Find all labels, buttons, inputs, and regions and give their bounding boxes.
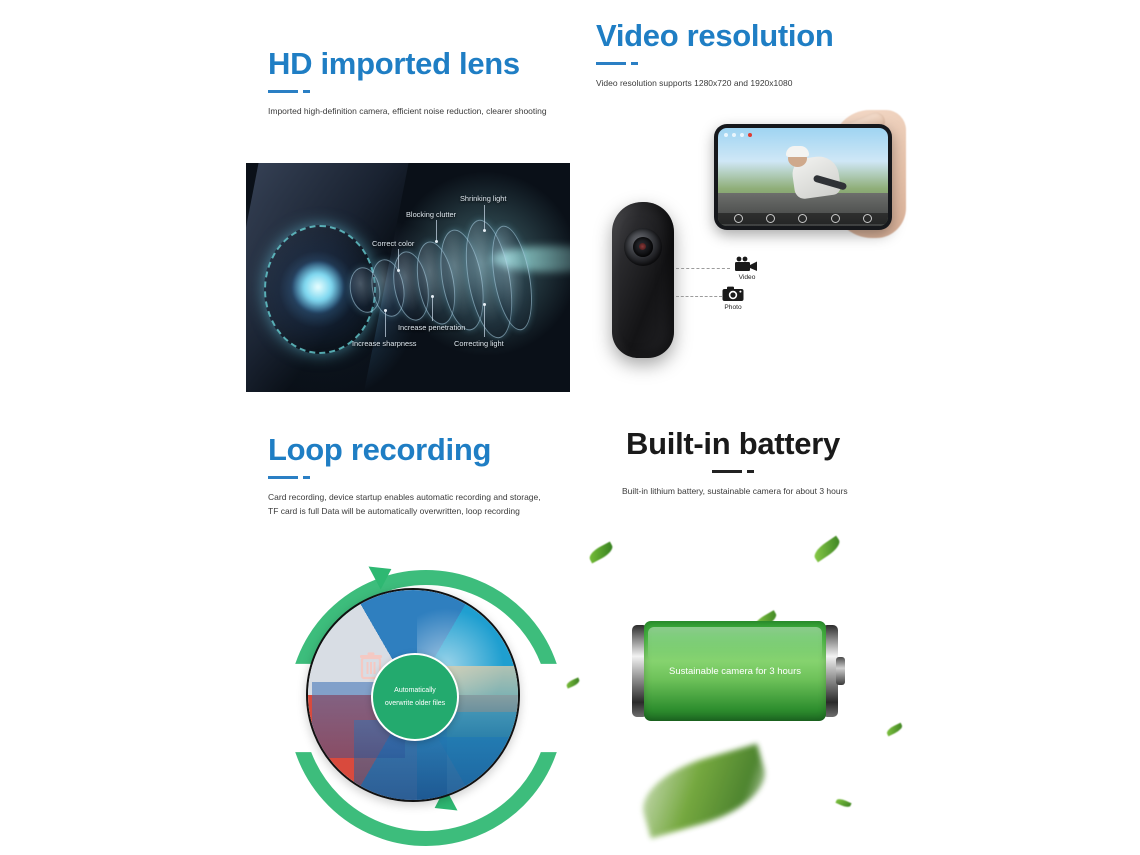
label-blocking-clutter: Blocking clutter bbox=[406, 210, 456, 219]
camera-lens-outer bbox=[624, 228, 662, 266]
leader-dot-shrinking-light bbox=[483, 229, 486, 232]
leader-dot-increase-sharpness bbox=[384, 309, 387, 312]
hub-line-1: Automatically bbox=[394, 684, 436, 697]
leader-blocking-clutter bbox=[436, 220, 437, 242]
hd-lens-subtitle: Imported high-definition camera, efficie… bbox=[268, 104, 547, 119]
lens-exploded-diagram-image: Shrinking light Blocking clutter Correct… bbox=[246, 163, 570, 392]
divider-long-dash bbox=[596, 62, 626, 65]
divider-short-dash bbox=[747, 470, 754, 473]
callout-line-photo bbox=[676, 296, 722, 297]
video-resolution-title: Video resolution bbox=[596, 20, 834, 53]
loop-recording-divider bbox=[268, 476, 541, 479]
label-correcting-light: Correcting light bbox=[454, 339, 504, 348]
video-resolution-divider bbox=[596, 62, 834, 65]
divider-long-dash bbox=[268, 476, 298, 479]
decorative-leaf-icon bbox=[835, 797, 851, 809]
label-increase-penetration: Increase penetration bbox=[398, 323, 465, 332]
section-loop-recording: Loop recording Card recording, device st… bbox=[268, 434, 541, 519]
battery-body: Sustainable camera for 3 hours bbox=[644, 621, 826, 721]
divider-long-dash bbox=[268, 90, 298, 93]
divider-short-dash bbox=[631, 62, 638, 65]
leader-dot-correct-color bbox=[397, 269, 400, 272]
battery-gloss bbox=[648, 627, 822, 661]
battery-terminal-nub bbox=[836, 657, 845, 685]
loop-recording-wheel-diagram: Automatically overwrite older files bbox=[282, 562, 540, 830]
built-in-battery-divider bbox=[622, 470, 844, 473]
control-icon[interactable] bbox=[766, 214, 775, 223]
loop-hub-label: Automatically overwrite older files bbox=[371, 653, 459, 741]
section-built-in-battery: Built-in battery Built-in lithium batter… bbox=[622, 428, 844, 498]
status-pip-icon bbox=[732, 133, 736, 137]
leader-correcting-light bbox=[484, 305, 485, 337]
recording-indicator-icon bbox=[748, 133, 752, 137]
built-in-battery-subtitle: Built-in lithium battery, sustainable ca… bbox=[622, 484, 844, 499]
decorative-leaf-icon bbox=[587, 542, 615, 564]
hand-holding-phone-image bbox=[704, 116, 900, 234]
leader-correct-color bbox=[398, 249, 399, 271]
section-video-resolution: Video resolution Video resolution suppor… bbox=[596, 20, 834, 90]
decorative-leaf-icon bbox=[885, 723, 903, 737]
divider-long-dash bbox=[712, 470, 742, 473]
phone-screen-video-preview bbox=[718, 128, 888, 226]
control-icon[interactable] bbox=[863, 214, 872, 223]
camera-lens-inner bbox=[633, 237, 653, 257]
leader-dot-increase-penetration bbox=[431, 295, 434, 298]
hd-lens-divider bbox=[268, 90, 547, 93]
leader-increase-sharpness bbox=[385, 311, 386, 337]
loop-segment-wheel: Automatically overwrite older files bbox=[306, 588, 520, 802]
video-cyclist-helmet bbox=[786, 146, 809, 157]
decorative-leaf-icon bbox=[565, 677, 580, 688]
divider-short-dash bbox=[303, 476, 310, 479]
status-pip-icon bbox=[724, 133, 728, 137]
label-shrinking-light: Shrinking light bbox=[460, 194, 506, 203]
video-label: Video bbox=[730, 274, 764, 281]
hd-lens-title: HD imported lens bbox=[268, 48, 547, 81]
battery-graphic: Sustainable camera for 3 hours bbox=[632, 621, 838, 721]
control-icon[interactable] bbox=[734, 214, 743, 223]
shutter-icon[interactable] bbox=[798, 214, 807, 223]
divider-short-dash bbox=[303, 90, 310, 93]
loop-recording-title: Loop recording bbox=[268, 434, 541, 467]
hub-line-2: overwrite older files bbox=[385, 697, 445, 710]
control-icon[interactable] bbox=[831, 214, 840, 223]
photo-label: Photo bbox=[716, 304, 750, 311]
loop-recording-subtitle: Card recording, device startup enables a… bbox=[268, 490, 541, 520]
leader-dot-blocking-clutter bbox=[435, 240, 438, 243]
leader-increase-penetration bbox=[432, 297, 433, 321]
callout-line-video bbox=[676, 268, 730, 269]
battery-text: Sustainable camera for 3 hours bbox=[669, 666, 801, 677]
section-hd-imported-lens: HD imported lens Imported high-definitio… bbox=[268, 48, 547, 118]
product-infographic: HD imported lens Imported high-definitio… bbox=[0, 0, 1140, 855]
decorative-leaf-icon bbox=[811, 536, 843, 563]
loop-subtitle-line-1: Card recording, device startup enables a… bbox=[268, 490, 541, 505]
status-pip-icon bbox=[740, 133, 744, 137]
leader-shrinking-light bbox=[484, 205, 485, 231]
decorative-leaf-large-icon bbox=[634, 744, 774, 839]
built-in-battery-title: Built-in battery bbox=[622, 428, 844, 461]
label-correct-color: Correct color bbox=[372, 239, 414, 248]
leader-dot-correcting-light bbox=[483, 303, 486, 306]
phone-status-bar bbox=[718, 131, 888, 139]
video-resolution-subtitle: Video resolution supports 1280x720 and 1… bbox=[596, 76, 834, 91]
phone-camera-controls bbox=[718, 213, 888, 224]
mini-camera-device-image bbox=[612, 202, 674, 358]
loop-subtitle-line-2: TF card is full Data will be automatical… bbox=[268, 504, 541, 519]
label-increase-sharpness: Increase sharpness bbox=[352, 339, 417, 348]
smartphone bbox=[714, 124, 892, 230]
